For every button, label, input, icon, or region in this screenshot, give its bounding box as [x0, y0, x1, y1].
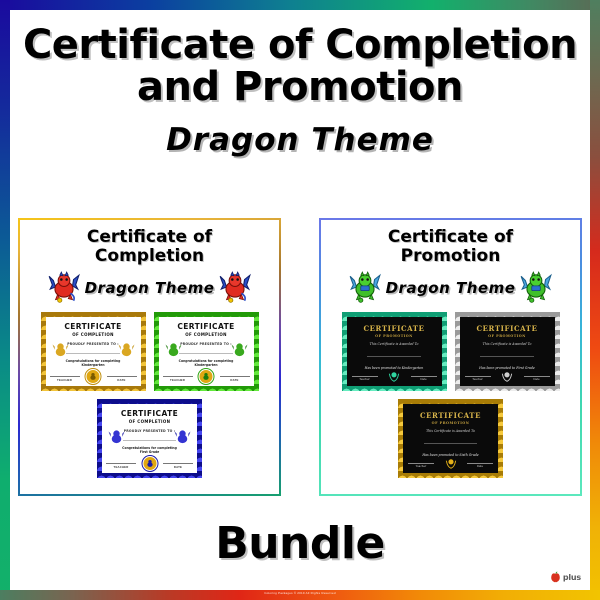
dragon-watermark-icon: [231, 341, 248, 358]
panel-completion-title-line1: Certificate of: [20, 228, 279, 247]
cert-subtitle: OF PROMOTION: [488, 334, 526, 338]
apple-icon: [550, 571, 561, 583]
frame-border-top: [0, 0, 600, 10]
cert-right-label: Date: [411, 378, 437, 381]
cert-subtitle: OF COMPLETION: [129, 419, 171, 424]
cert-name-rule: [179, 353, 232, 354]
cert-teacher-signature: TEACHER: [50, 376, 80, 382]
panel-completion-title-line2: Completion: [20, 247, 279, 266]
certificate-thumb-promotion-silver[interactable]: CERTIFICATE OF PROMOTION This Certificat…: [455, 312, 560, 391]
cert-teacher-signature: Teacher: [352, 376, 378, 381]
cert-left-label: Teacher: [352, 378, 378, 381]
cert-seal: [500, 369, 514, 383]
cert-teacher-signature: Teacher: [465, 376, 491, 381]
dragon-seal-icon: [89, 372, 98, 381]
cert-title: CERTIFICATE: [121, 409, 178, 418]
cert-seal: [86, 369, 101, 384]
certificate-thumb-completion-gold[interactable]: CERTIFICATE OF COMPLETION PROUDLY PRESEN…: [41, 312, 146, 391]
cert-left-label: Teacher: [408, 465, 434, 468]
panel-promotion-title-line1: Certificate of: [321, 228, 580, 247]
cert-right-label: DATE: [163, 465, 193, 469]
panel-promotion[interactable]: Certificate of Promotion: [319, 218, 582, 496]
cert-title: CERTIFICATE: [363, 324, 424, 333]
cert-awarded-label: This Certificate is Awarded To: [483, 342, 532, 346]
cert-date-signature: Date: [467, 463, 493, 468]
cert-congrats-line2: First Grade: [140, 450, 160, 454]
cert-right-label: Date: [524, 378, 550, 381]
panel-completion-subtitle: Dragon Theme: [85, 279, 215, 297]
certificate-thumb-promotion-teal[interactable]: CERTIFICATE OF PROMOTION This Certificat…: [342, 312, 447, 391]
cert-left-label: Teacher: [465, 378, 491, 381]
panel-completion-subtitle-row: Dragon Theme: [20, 268, 279, 308]
cert-seal: [444, 456, 458, 470]
cert-presented-label: PROUDLY PRESENTED TO :: [180, 342, 232, 346]
cert-seal: [142, 456, 157, 471]
cert-teacher-signature: Teacher: [408, 463, 434, 468]
cert-presented-label: PROUDLY PRESENTED TO :: [124, 429, 176, 433]
cert-right-label: DATE: [107, 378, 137, 382]
cert-seal: [199, 369, 214, 384]
cert-title: CERTIFICATE: [177, 322, 234, 331]
cert-left-label: TEACHER: [106, 465, 136, 469]
cert-subtitle: OF COMPLETION: [72, 332, 114, 337]
cert-title: CERTIFICATE: [64, 322, 121, 331]
cert-title: CERTIFICATE: [476, 324, 537, 333]
certificate-thumb-promotion-gold[interactable]: CERTIFICATE OF PROMOTION This Certificat…: [398, 399, 503, 478]
cert-name-rule: [424, 443, 477, 444]
cert-right-label: Date: [467, 465, 493, 468]
dragon-seal-icon: [202, 372, 211, 381]
cert-awarded-label: This Certificate is Awarded To: [370, 342, 419, 346]
panel-promotion-title-line2: Promotion: [321, 247, 580, 266]
cert-teacher-signature: TEACHER: [163, 376, 193, 382]
certificate-thumb-completion-green[interactable]: CERTIFICATE OF COMPLETION PROUDLY PRESEN…: [154, 312, 259, 391]
promotion-certificate-grid: CERTIFICATE OF PROMOTION This Certificat…: [321, 312, 580, 478]
poster-content: Certificate of Completion and Promotion …: [10, 10, 590, 590]
page-title-line1: Certificate of Completion: [10, 24, 590, 66]
panel-promotion-subtitle-row: Dragon Theme: [321, 268, 580, 308]
cert-awarded-label: This Certificate is Awarded To: [426, 429, 475, 433]
preview-panels: Certificate of Completion: [18, 218, 582, 498]
cert-subtitle: OF PROMOTION: [432, 421, 470, 425]
dragon-seal-icon: [145, 459, 154, 468]
panel-completion[interactable]: Certificate of Completion: [18, 218, 281, 496]
cert-subtitle: OF PROMOTION: [375, 334, 413, 338]
cert-left-label: TEACHER: [163, 378, 193, 382]
cert-title: CERTIFICATE: [420, 411, 481, 420]
cert-congrats-line2: Kindergarten: [81, 363, 104, 367]
header-block: Certificate of Completion and Promotion …: [10, 10, 590, 158]
brand-watermark: plus: [547, 570, 584, 584]
cert-seal: [387, 369, 401, 383]
cert-date-signature: DATE: [107, 376, 137, 382]
red-dragon-icon: [47, 271, 81, 305]
panel-promotion-subtitle: Dragon Theme: [386, 279, 516, 297]
frame-border-right: [590, 0, 600, 600]
dragon-watermark-icon: [52, 341, 69, 358]
copyright-note: Coloring Packages © 2019 All Rights Rese…: [0, 591, 600, 595]
cert-presented-label: PROUDLY PRESENTED TO :: [67, 342, 119, 346]
cert-date-signature: Date: [411, 376, 437, 381]
dragon-watermark-icon: [108, 428, 125, 445]
frame-border-bottom: Coloring Packages © 2019 All Rights Rese…: [0, 590, 600, 600]
page-subtitle: Dragon Theme: [10, 122, 590, 158]
poster-canvas: Coloring Packages © 2019 All Rights Rese…: [0, 0, 600, 600]
cert-date-signature: DATE: [220, 376, 250, 382]
cert-congrats-line2: Kindergarten: [194, 363, 217, 367]
certificate-thumb-completion-blue[interactable]: CERTIFICATE OF COMPLETION PROUDLY PRESEN…: [97, 399, 202, 478]
completion-certificate-grid: CERTIFICATE OF COMPLETION PROUDLY PRESEN…: [20, 312, 279, 478]
cert-subtitle: OF COMPLETION: [185, 332, 227, 337]
green-dragon-icon: [519, 271, 553, 305]
dragon-watermark-icon: [165, 341, 182, 358]
cert-name-rule: [66, 353, 119, 354]
cert-left-label: TEACHER: [50, 378, 80, 382]
cert-name-rule: [123, 440, 176, 441]
bundle-label: Bundle: [10, 518, 590, 569]
page-title-line2: and Promotion: [10, 66, 590, 108]
dragon-watermark-icon: [118, 341, 135, 358]
cert-name-rule: [367, 356, 420, 357]
red-dragon-icon: [218, 271, 252, 305]
cert-name-rule: [480, 356, 533, 357]
dragon-watermark-icon: [174, 428, 191, 445]
cert-date-signature: Date: [524, 376, 550, 381]
frame-border-left: [0, 0, 10, 600]
brand-name: plus: [563, 573, 581, 582]
cert-teacher-signature: TEACHER: [106, 463, 136, 469]
cert-date-signature: DATE: [163, 463, 193, 469]
cert-right-label: DATE: [220, 378, 250, 382]
green-dragon-icon: [348, 271, 382, 305]
